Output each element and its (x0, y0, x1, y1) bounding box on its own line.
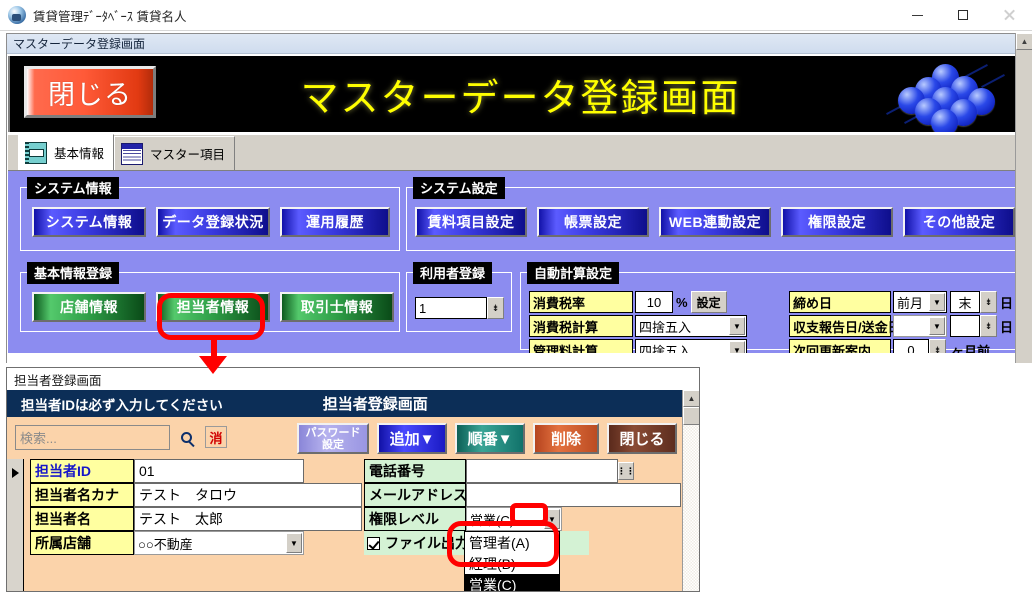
input-email[interactable] (466, 483, 681, 507)
dialog-header-notice: 担当者IDは必ず入力してください (21, 394, 223, 414)
window-controls (894, 0, 1032, 31)
user-count-spinner[interactable]: ⇟ (487, 297, 504, 319)
button-web-link-settings[interactable]: WEB連動設定 (659, 207, 771, 237)
input-next-renewal[interactable]: 0 (893, 339, 929, 353)
tab-master-items-label: マスター項目 (150, 144, 225, 163)
input-staff-kana[interactable]: テスト タロウ (134, 483, 362, 507)
combo-store-value: ○○不動産 (138, 534, 193, 553)
label-phone: 電話番号 (364, 459, 466, 483)
window-title: 賃貸管理ﾃﾞｰﾀﾍﾞｰｽ 賃貸名人 (33, 6, 186, 25)
dropdown-option-finance[interactable]: 経理(B) (465, 553, 559, 574)
label-next-renewal-notice: 次回更新案内 (789, 339, 891, 353)
dialog-scroll-up-arrow-icon[interactable]: ▲ (683, 390, 700, 407)
minimize-button[interactable] (894, 0, 940, 31)
grid-table-icon (121, 143, 143, 165)
maximize-button[interactable] (940, 0, 986, 31)
button-rent-item-settings[interactable]: 賃料項目設定 (415, 207, 527, 237)
group-user-registration-label: 利用者登録 (413, 262, 492, 284)
combo-report-month[interactable]: ▼ (893, 315, 947, 337)
dialog-vertical-scrollbar[interactable]: ▲ (682, 390, 699, 592)
button-agent-info[interactable]: 取引士情報 (280, 292, 394, 322)
label-report-remit-date: 収支報告日/送金日 (789, 315, 891, 337)
password-setting-button[interactable]: パスワード 設定 (297, 423, 369, 454)
combo-permission-level[interactable]: 営業(C) ▼ (466, 507, 562, 531)
input-tax-rate[interactable]: 10 (635, 291, 673, 313)
button-system-info[interactable]: システム情報 (32, 207, 146, 237)
group-system-info: システム情報 システム情報 データ登録状況 運用履歴 (20, 187, 400, 251)
closing-day-spinner[interactable]: ⇟ (980, 291, 997, 313)
order-button[interactable]: 順番▼ (455, 423, 525, 454)
delete-button[interactable]: 削除 (533, 423, 599, 454)
label-permission-level: 権限レベル (364, 507, 466, 531)
phone-builder-button[interactable]: ⋮⋮ (618, 462, 634, 480)
label-mgmt-calc: 管理料計算 (529, 339, 633, 353)
record-selector[interactable] (7, 459, 24, 592)
window-vertical-scrollbar[interactable]: ▲ (1015, 33, 1032, 363)
button-operation-history[interactable]: 運用履歴 (280, 207, 390, 237)
staff-registration-dialog: 担当者登録画面 担当者IDは必ず入力してください 担当者登録画面 検索... 消… (6, 367, 700, 592)
chevron-down-icon[interactable]: ▼ (929, 317, 945, 335)
search-clear-button[interactable]: 消 (205, 426, 227, 448)
group-system-settings: システム設定 賃料項目設定 帳票設定 WEB連動設定 権限設定 その他設定 (406, 187, 1022, 251)
checkbox-file-export-box[interactable] (367, 537, 380, 550)
chevron-down-icon[interactable]: ▼ (929, 293, 945, 311)
group-user-registration: 利用者登録 1 ⇟ (406, 272, 512, 332)
banner: 閉じる マスターデータ登録画面 (8, 56, 1031, 132)
label-staff-kana: 担当者名カナ (30, 483, 134, 507)
button-permission-settings[interactable]: 権限設定 (781, 207, 893, 237)
chevron-down-icon[interactable]: ▼ (729, 317, 745, 335)
search-icon[interactable] (175, 425, 197, 450)
dropdown-option-sales[interactable]: 営業(C) (465, 574, 559, 592)
dialog-toolbar: 検索... 消 パスワード 設定 追加▼ 順番▼ 削除 閉じる (7, 417, 699, 459)
next-renewal-spinner[interactable]: ⇟ (929, 339, 946, 353)
dialog-close-button[interactable]: 閉じる (607, 423, 677, 454)
label-email: メールアドレス (364, 483, 466, 507)
banner-close-button[interactable]: 閉じる (24, 66, 156, 118)
button-apply-tax-rate[interactable]: 設定 (691, 291, 727, 313)
dialog-body: 担当者IDは必ず入力してください 担当者登録画面 検索... 消 パスワード 設… (7, 390, 699, 592)
tab-basic-info-label: 基本情報 (54, 143, 104, 162)
input-closing-day[interactable]: 末 (950, 291, 980, 313)
combo-mgmt-calc[interactable]: 四捨五入 ▼ (635, 339, 747, 353)
group-basic-registration: 基本情報登録 店舗情報 担当者情報 取引士情報 (20, 272, 400, 332)
group-auto-calc-label: 自動計算設定 (527, 262, 619, 284)
button-report-settings[interactable]: 帳票設定 (537, 207, 649, 237)
button-data-registration-status[interactable]: データ登録状況 (156, 207, 270, 237)
unit-months-before: ヶ月前 (951, 341, 990, 354)
user-count-input[interactable]: 1 (415, 297, 487, 319)
form-grid: 担当者ID 01 電話番号 ⋮⋮ 担当者名カナ テスト タロウ メールアドレス (24, 459, 677, 592)
label-tax-calc: 消費税計算 (529, 315, 633, 337)
sphere-cluster-icon (885, 64, 1009, 126)
dialog-header: 担当者IDは必ず入力してください 担当者登録画面 (7, 390, 699, 417)
input-phone[interactable] (466, 459, 618, 483)
combo-store[interactable]: ○○不動産 ▼ (134, 531, 304, 555)
chevron-down-icon[interactable]: ▼ (729, 341, 745, 353)
master-data-window: マスターデータ登録画面 閉じる マスターデータ登録画面 (6, 33, 1032, 363)
app-globe-icon (8, 6, 26, 24)
search-input[interactable]: 検索... (15, 425, 170, 450)
combo-tax-calc[interactable]: 四捨五入 ▼ (635, 315, 747, 337)
combo-mgmt-calc-value: 四捨五入 (639, 341, 691, 354)
dialog-scroll-thumb[interactable] (683, 407, 700, 425)
tab-strip: 基本情報 マスター項目 (8, 135, 1031, 171)
chevron-down-icon[interactable]: ▼ (544, 509, 560, 529)
label-store: 所属店舗 (30, 531, 134, 555)
tab-master-items[interactable]: マスター項目 (114, 136, 235, 170)
notebook-icon (25, 142, 47, 164)
scroll-up-arrow-icon[interactable]: ▲ (1016, 33, 1032, 50)
button-other-settings[interactable]: その他設定 (903, 207, 1015, 237)
add-button[interactable]: 追加▼ (377, 423, 447, 454)
dropdown-option-admin[interactable]: 管理者(A) (465, 532, 559, 553)
report-day-spinner[interactable]: ⇟ (980, 315, 997, 337)
dialog-caption: 担当者登録画面 (7, 368, 699, 390)
combo-tax-calc-value: 四捨五入 (639, 317, 691, 336)
input-report-day[interactable] (950, 315, 980, 337)
group-auto-calc: 自動計算設定 消費税率 10 % 設定 消費税計算 四捨五入 ▼ 管理料計算 (520, 272, 1022, 350)
permission-level-dropdown-list[interactable]: 管理者(A) 経理(B) 営業(C) ゲスト(D) (464, 531, 560, 592)
group-system-info-label: システム情報 (27, 177, 119, 199)
content-panel: システム情報 システム情報 データ登録状況 運用履歴 システム設定 賃料項目設定… (8, 171, 1031, 353)
combo-permission-level-value: 営業(C) (470, 510, 514, 529)
input-staff-id[interactable]: 01 (134, 459, 304, 483)
banner-title: マスターデータ登録画面 (10, 56, 1031, 132)
record-selector-arrow-icon (12, 468, 19, 478)
tab-basic-info[interactable]: 基本情報 (18, 134, 114, 170)
input-staff-name[interactable]: テスト 太郎 (134, 507, 362, 531)
button-staff-info[interactable]: 担当者情報 (156, 292, 270, 322)
password-setting-line2: 設定 (322, 439, 344, 451)
label-staff-name: 担当者名 (30, 507, 134, 531)
combo-closing-month-value: 前月 (897, 293, 923, 312)
label-closing-date: 締め日 (789, 291, 891, 313)
chevron-down-icon[interactable]: ▼ (286, 533, 302, 553)
unit-day-2: 日 (1000, 317, 1013, 336)
dialog-header-title: 担当者登録画面 (323, 393, 428, 414)
unit-day-1: 日 (1000, 293, 1013, 312)
combo-closing-month[interactable]: 前月 ▼ (893, 291, 947, 313)
window-titlebar: 賃貸管理ﾃﾞｰﾀﾍﾞｰｽ 賃貸名人 (0, 0, 1032, 31)
group-system-settings-label: システム設定 (413, 177, 505, 199)
unit-percent: % (676, 295, 688, 310)
label-tax-rate: 消費税率 (529, 291, 633, 313)
group-basic-registration-label: 基本情報登録 (27, 262, 119, 284)
button-store-info[interactable]: 店舗情報 (32, 292, 146, 322)
close-button[interactable] (986, 0, 1032, 31)
mdi-caption: マスターデータ登録画面 (7, 34, 1032, 54)
label-staff-id: 担当者ID (30, 459, 134, 483)
password-setting-line1: パスワード (306, 427, 361, 439)
